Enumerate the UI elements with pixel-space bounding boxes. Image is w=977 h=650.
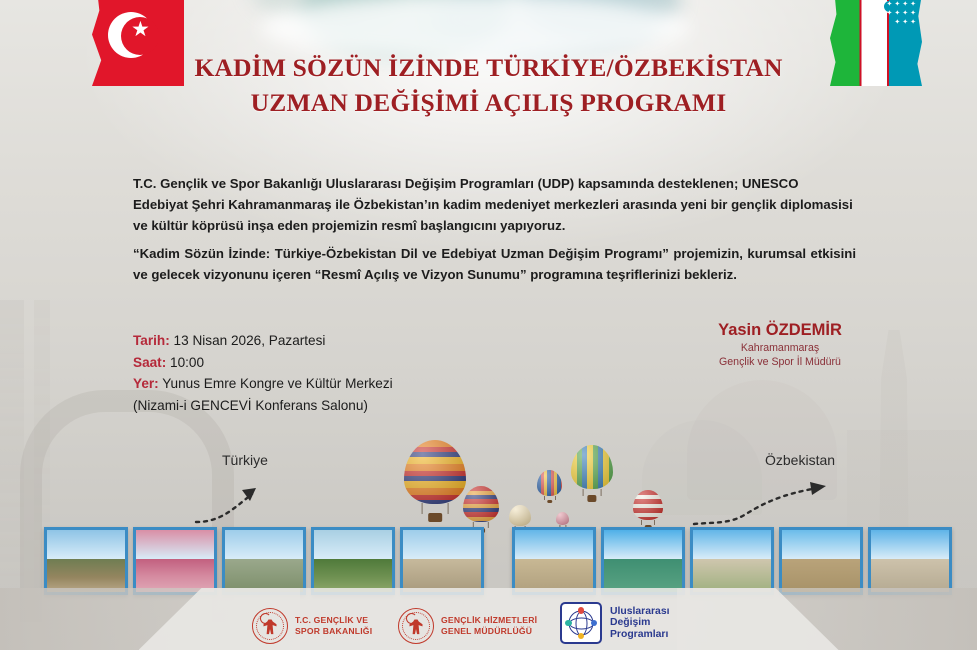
photo-navoi-theatre: [690, 527, 774, 595]
project-paragraph: “Kadim Sözün İzinde: Türkiye-Özbekistan …: [133, 243, 856, 285]
logo-gsb-line1: T.C. GENÇLİK VE: [295, 615, 372, 626]
photo-sky: [403, 530, 481, 559]
photo-registan-samarkand: [512, 527, 596, 595]
detail-row-place: Yer: Yunus Emre Kongre ve Kültür Merkezi: [133, 373, 393, 395]
photo-rize-valley: [311, 527, 395, 595]
logo-ghgm-line1: GENÇLİK HİZMETLERİ: [441, 615, 537, 626]
label-ozbekistan: Özbekistan: [765, 452, 835, 468]
logo-gsb-line2: SPOR BAKANLIĞI: [295, 626, 372, 637]
photo-sky: [47, 530, 125, 559]
signature-block: Yasin ÖZDEMİR Kahramanmaraş Gençlik ve S…: [655, 320, 905, 369]
photo-sky: [136, 530, 214, 559]
photo-kahramanmaras-citadel: [44, 527, 128, 595]
photo-ground: [403, 559, 481, 592]
udp-globe-icon: [560, 602, 602, 644]
photo-hagia-sophia: [222, 527, 306, 595]
udp-dot-blue: [591, 620, 598, 627]
watercolor-splash-1: [250, 0, 400, 24]
balloon-envelope: [556, 512, 569, 525]
watercolor-splash-2: [300, 0, 510, 56]
ghgm-emblem-icon: [398, 608, 434, 644]
page-title: KADİM SÖZÜN İZİNDE TÜRKİYE/ÖZBEKİSTAN UZ…: [0, 50, 977, 120]
logo-udp-line1: Uluslararası: [610, 606, 670, 618]
place-hall: (Nizami-i GENCEVİ Konferans Salonu): [133, 395, 393, 417]
logo-udp-line2: Değişim: [610, 617, 670, 629]
photo-ground: [47, 559, 125, 592]
photo-shah-i-zinda: [868, 527, 952, 595]
photo-ground: [314, 559, 392, 592]
photo-sky: [225, 530, 303, 559]
balloon-envelope: [509, 505, 531, 526]
photo-sky: [693, 530, 771, 559]
photo-ground: [604, 559, 682, 592]
balloon-envelope: [404, 440, 466, 504]
logo-gsb: T.C. GENÇLİK VE SPOR BAKANLIĞI: [252, 608, 372, 644]
photo-sky: [515, 530, 593, 559]
balloon-envelope: [633, 490, 663, 520]
logo-udp: Uluslararası Değişim Programları: [560, 602, 670, 644]
balloon-yellow-green: [571, 445, 613, 503]
photo-ground: [871, 559, 949, 592]
uz-stars-icon: ✦✦✦✦✦✦✦✦✦✦✦✦: [878, 0, 918, 48]
balloon-basket: [547, 500, 553, 504]
photo-sky: [604, 530, 682, 559]
logo-ghgm-text: GENÇLİK HİZMETLERİ GENEL MÜDÜRLÜĞÜ: [441, 615, 537, 636]
photo-ground: [782, 559, 860, 592]
balloon-envelope: [571, 445, 613, 489]
logo-ghgm-line2: GENEL MÜDÜRLÜĞÜ: [441, 626, 537, 637]
event-poster: ✦✦✦✦✦✦✦✦✦✦✦✦ KADİM SÖZÜN İZİNDE TÜRKİYE/…: [0, 0, 977, 650]
label-turkiye: Türkiye: [222, 452, 268, 468]
logo-ghgm: GENÇLİK HİZMETLERİ GENEL MÜDÜRLÜĞÜ: [398, 608, 537, 644]
event-details: Tarih: 13 Nisan 2026, Pazartesi Saat: 10…: [133, 330, 393, 416]
photo-ground: [136, 559, 214, 592]
date-label: Tarih:: [133, 333, 170, 348]
udp-dot-teal: [565, 620, 572, 627]
photo-sky: [782, 530, 860, 559]
logo-udp-text: Uluslararası Değişim Programları: [610, 606, 670, 641]
photo-konya-mevlana: [400, 527, 484, 595]
place-label: Yer:: [133, 376, 159, 391]
arrow-ozbekistan-icon: [690, 472, 840, 532]
gsb-emblem-icon: [252, 608, 288, 644]
title-line-2: UZMAN DEĞİŞİMİ AÇILIŞ PROGRAMI: [0, 85, 977, 120]
date-value: 13 Nisan 2026, Pazartesi: [174, 333, 326, 348]
detail-row-date: Tarih: 13 Nisan 2026, Pazartesi: [133, 330, 393, 352]
place-value: Yunus Emre Kongre ve Kültür Merkezi: [162, 376, 392, 391]
logo-udp-line3: Programları: [610, 629, 670, 641]
photo-ground: [693, 559, 771, 592]
udp-ring-icon: [569, 611, 594, 636]
photo-cappadocia-balloons: [133, 527, 217, 595]
balloon-blue-small: [537, 470, 562, 504]
photo-sky: [871, 530, 949, 559]
photo-amir-timur-monument: [779, 527, 863, 595]
udp-dot-yellow: [578, 633, 585, 640]
balloon-red-white: [633, 490, 663, 530]
photo-sky: [314, 530, 392, 559]
balloon-basket: [587, 495, 596, 501]
title-line-1: KADİM SÖZÜN İZİNDE TÜRKİYE/ÖZBEKİSTAN: [194, 53, 782, 82]
balloon-envelope: [463, 486, 499, 522]
footer-platform: T.C. GENÇLİK VE SPOR BAKANLIĞI GENÇLİK H…: [0, 588, 977, 650]
watercolor-splash-4: [430, 0, 660, 56]
photo-ground: [515, 559, 593, 592]
logo-gsb-text: T.C. GENÇLİK VE SPOR BAKANLIĞI: [295, 615, 372, 636]
intro-paragraph: T.C. Gençlik ve Spor Bakanlığı Uluslarar…: [133, 173, 856, 237]
balloon-basket: [428, 513, 442, 522]
photo-ground: [225, 559, 303, 592]
balloon-envelope: [537, 470, 562, 496]
arrow-turkiye-icon: [190, 470, 310, 530]
time-label: Saat:: [133, 355, 166, 370]
photo-tashkent-tv-tower: [601, 527, 685, 595]
signatory-title: Gençlik ve Spor İl Müdürü: [655, 355, 905, 369]
detail-row-time: Saat: 10:00: [133, 352, 393, 374]
watercolor-splash-3: [520, 0, 680, 40]
udp-dot-red: [578, 607, 585, 614]
balloon-large-orange: [404, 440, 466, 524]
watermark-dome-icon: [687, 380, 837, 500]
signatory-name: Yasin ÖZDEMİR: [655, 320, 905, 341]
signatory-city: Kahramanmaraş: [655, 341, 905, 355]
time-value: 10:00: [170, 355, 204, 370]
